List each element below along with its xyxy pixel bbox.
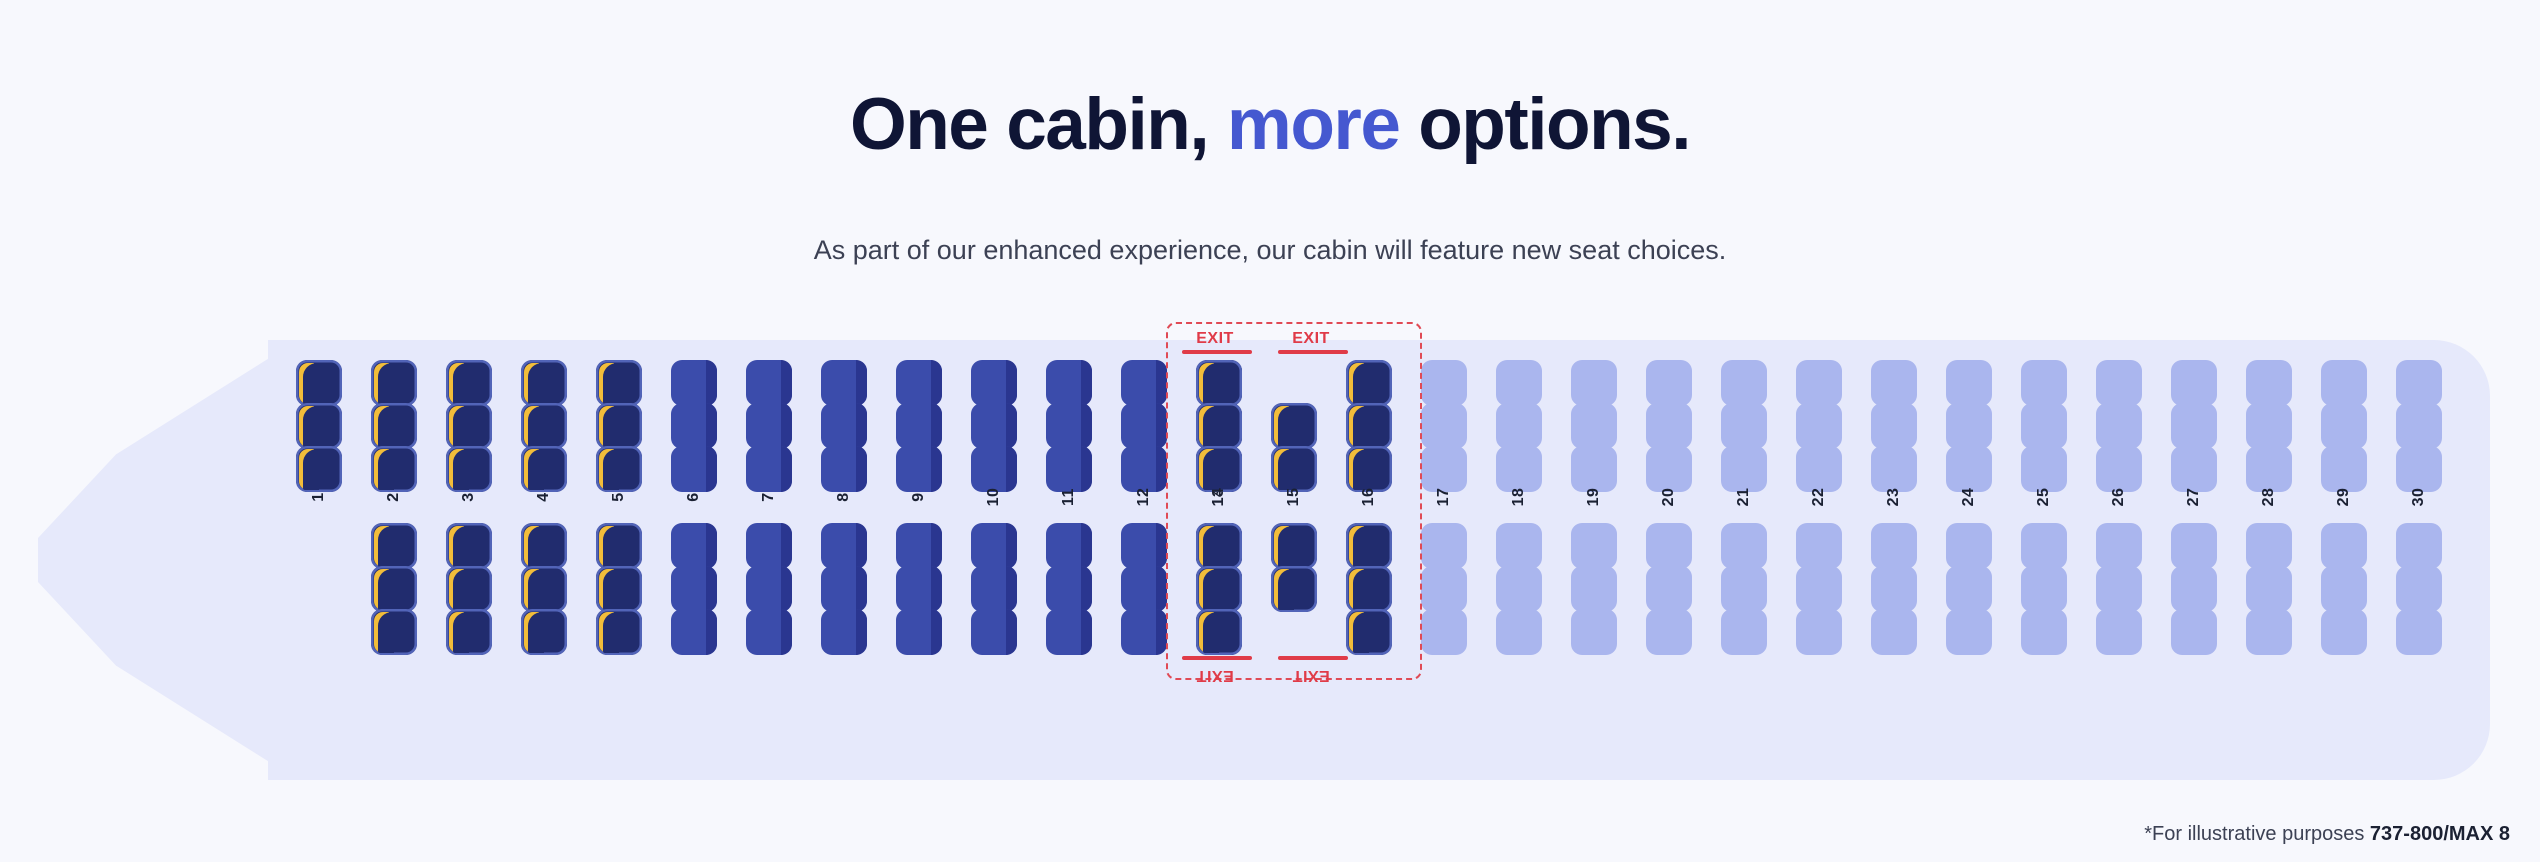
seat-22-upper-2[interactable] xyxy=(1796,403,1842,449)
seat-29-lower-1[interactable] xyxy=(2321,523,2367,569)
seat-8-lower-1[interactable] xyxy=(821,523,867,569)
exit-bar-bottom-left xyxy=(1182,656,1252,660)
seat-29-lower-2[interactable] xyxy=(2321,566,2367,612)
seat-23-upper-1[interactable] xyxy=(1871,360,1917,406)
row-number-17: 17 xyxy=(1435,474,1453,520)
row-number-14: 14 xyxy=(1210,474,1228,520)
seat-23-lower-2[interactable] xyxy=(1871,566,1917,612)
seat-12-lower-3[interactable] xyxy=(1121,609,1167,655)
row-number-15: 15 xyxy=(1285,474,1303,520)
footnote: *For illustrative purposes 737-800/MAX 8 xyxy=(2144,823,2510,846)
exit-bar-top-right xyxy=(1278,350,1348,354)
seat-2-upper-2[interactable] xyxy=(371,403,417,449)
row-number-24: 24 xyxy=(1960,474,1978,520)
seat-23-lower-1[interactable] xyxy=(1871,523,1917,569)
row-number-26: 26 xyxy=(2110,474,2128,520)
row-number-28: 28 xyxy=(2260,474,2278,520)
row-number-3: 3 xyxy=(460,474,478,520)
page-title-part2: options. xyxy=(1399,84,1690,165)
seat-25-upper-1[interactable] xyxy=(2021,360,2067,406)
seat-22-upper-1[interactable] xyxy=(1796,360,1842,406)
seat-3-lower-2[interactable] xyxy=(446,566,492,612)
exit-bar-bottom-right xyxy=(1278,656,1348,660)
seat-4-lower-3[interactable] xyxy=(521,609,567,655)
seat-11-lower-2[interactable] xyxy=(1046,566,1092,612)
seat-10-upper-1[interactable] xyxy=(971,360,1017,406)
row-number-30: 30 xyxy=(2410,474,2428,520)
row-number-5: 5 xyxy=(610,474,628,520)
seat-20-lower-2[interactable] xyxy=(1646,566,1692,612)
seat-17-lower-3[interactable] xyxy=(1421,609,1467,655)
seat-24-upper-2[interactable] xyxy=(1946,403,1992,449)
seat-1-upper-2[interactable] xyxy=(296,403,342,449)
seat-16-lower-1[interactable] xyxy=(1346,523,1392,569)
seat-26-lower-2[interactable] xyxy=(2096,566,2142,612)
seat-29-lower-3[interactable] xyxy=(2321,609,2367,655)
seat-8-lower-3[interactable] xyxy=(821,609,867,655)
seat-21-upper-1[interactable] xyxy=(1721,360,1767,406)
row-number-27: 27 xyxy=(2185,474,2203,520)
footnote-aircraft: 737-800/MAX 8 xyxy=(2370,823,2510,845)
seat-2-lower-1[interactable] xyxy=(371,523,417,569)
row-number-9: 9 xyxy=(910,474,928,520)
seat-19-lower-3[interactable] xyxy=(1571,609,1617,655)
seat-29-upper-1[interactable] xyxy=(2321,360,2367,406)
seat-7-upper-2[interactable] xyxy=(746,403,792,449)
seat-5-upper-2[interactable] xyxy=(596,403,642,449)
seat-17-lower-2[interactable] xyxy=(1421,566,1467,612)
seat-16-lower-2[interactable] xyxy=(1346,566,1392,612)
page-title-part1: One cabin, xyxy=(850,84,1227,165)
seat-12-upper-1[interactable] xyxy=(1121,360,1167,406)
seat-24-lower-2[interactable] xyxy=(1946,566,1992,612)
seat-11-lower-3[interactable] xyxy=(1046,609,1092,655)
seat-2-lower-2[interactable] xyxy=(371,566,417,612)
seat-28-upper-1[interactable] xyxy=(2246,360,2292,406)
seat-30-upper-1[interactable] xyxy=(2396,360,2442,406)
row-number-10: 10 xyxy=(985,474,1003,520)
seat-28-lower-1[interactable] xyxy=(2246,523,2292,569)
seat-21-lower-1[interactable] xyxy=(1721,523,1767,569)
seat-16-lower-3[interactable] xyxy=(1346,609,1392,655)
seat-28-lower-2[interactable] xyxy=(2246,566,2292,612)
seat-8-upper-1[interactable] xyxy=(821,360,867,406)
exit-label-bottom-right: EXIT xyxy=(1276,666,1346,684)
seat-7-upper-1[interactable] xyxy=(746,360,792,406)
seat-15-upper-2[interactable] xyxy=(1271,403,1317,449)
seat-9-lower-3[interactable] xyxy=(896,609,942,655)
seat-28-lower-3[interactable] xyxy=(2246,609,2292,655)
seat-22-lower-1[interactable] xyxy=(1796,523,1842,569)
seat-16-upper-1[interactable] xyxy=(1346,360,1392,406)
seat-12-lower-2[interactable] xyxy=(1121,566,1167,612)
seat-9-lower-2[interactable] xyxy=(896,566,942,612)
seat-5-lower-1[interactable] xyxy=(596,523,642,569)
seat-4-lower-1[interactable] xyxy=(521,523,567,569)
seat-6-upper-1[interactable] xyxy=(671,360,717,406)
seat-3-upper-2[interactable] xyxy=(446,403,492,449)
seat-8-upper-2[interactable] xyxy=(821,403,867,449)
row-number-12: 12 xyxy=(1135,474,1153,520)
seat-30-lower-3[interactable] xyxy=(2396,609,2442,655)
seat-23-upper-2[interactable] xyxy=(1871,403,1917,449)
seat-map: 1234567891011121314151617181920212223242… xyxy=(0,340,2540,780)
seat-11-upper-1[interactable] xyxy=(1046,360,1092,406)
seat-19-lower-2[interactable] xyxy=(1571,566,1617,612)
seat-30-lower-2[interactable] xyxy=(2396,566,2442,612)
seat-14-lower-3[interactable] xyxy=(1196,609,1242,655)
seat-17-upper-1[interactable] xyxy=(1421,360,1467,406)
seat-21-lower-2[interactable] xyxy=(1721,566,1767,612)
seat-6-lower-2[interactable] xyxy=(671,566,717,612)
seat-25-upper-2[interactable] xyxy=(2021,403,2067,449)
seat-22-lower-2[interactable] xyxy=(1796,566,1842,612)
seat-27-lower-2[interactable] xyxy=(2171,566,2217,612)
seat-19-upper-1[interactable] xyxy=(1571,360,1617,406)
seat-24-upper-1[interactable] xyxy=(1946,360,1992,406)
seat-6-lower-1[interactable] xyxy=(671,523,717,569)
seat-8-lower-2[interactable] xyxy=(821,566,867,612)
row-number-1: 1 xyxy=(310,474,328,520)
seat-14-upper-2[interactable] xyxy=(1196,403,1242,449)
row-number-4: 4 xyxy=(535,474,553,520)
seat-18-upper-1[interactable] xyxy=(1496,360,1542,406)
row-number-25: 25 xyxy=(2035,474,2053,520)
seat-21-lower-3[interactable] xyxy=(1721,609,1767,655)
seat-4-upper-1[interactable] xyxy=(521,360,567,406)
seat-10-upper-2[interactable] xyxy=(971,403,1017,449)
seat-19-upper-2[interactable] xyxy=(1571,403,1617,449)
row-number-23: 23 xyxy=(1885,474,1903,520)
page-title: One cabin, more options. xyxy=(0,88,2540,161)
row-number-16: 16 xyxy=(1360,474,1378,520)
seat-30-upper-2[interactable] xyxy=(2396,403,2442,449)
seat-16-upper-2[interactable] xyxy=(1346,403,1392,449)
seat-9-lower-1[interactable] xyxy=(896,523,942,569)
exit-label-bottom-left: EXIT xyxy=(1180,666,1250,684)
seat-18-lower-2[interactable] xyxy=(1496,566,1542,612)
seat-17-upper-2[interactable] xyxy=(1421,403,1467,449)
exit-bar-top-left xyxy=(1182,350,1252,354)
seat-7-lower-2[interactable] xyxy=(746,566,792,612)
seat-12-lower-1[interactable] xyxy=(1121,523,1167,569)
exit-label-top-right: EXIT xyxy=(1276,330,1346,348)
seat-30-lower-1[interactable] xyxy=(2396,523,2442,569)
seat-19-lower-1[interactable] xyxy=(1571,523,1617,569)
seat-9-upper-1[interactable] xyxy=(896,360,942,406)
seat-7-lower-3[interactable] xyxy=(746,609,792,655)
seat-18-lower-1[interactable] xyxy=(1496,523,1542,569)
seat-27-upper-1[interactable] xyxy=(2171,360,2217,406)
seat-12-upper-2[interactable] xyxy=(1121,403,1167,449)
seat-7-lower-1[interactable] xyxy=(746,523,792,569)
seat-26-upper-2[interactable] xyxy=(2096,403,2142,449)
seat-14-lower-2[interactable] xyxy=(1196,566,1242,612)
row-number-2: 2 xyxy=(385,474,403,520)
exit-label-top-left: EXIT xyxy=(1180,330,1250,348)
seat-4-upper-2[interactable] xyxy=(521,403,567,449)
row-number-20: 20 xyxy=(1660,474,1678,520)
seat-26-lower-3[interactable] xyxy=(2096,609,2142,655)
row-number-6: 6 xyxy=(685,474,703,520)
seat-6-upper-2[interactable] xyxy=(671,403,717,449)
row-number-8: 8 xyxy=(835,474,853,520)
seat-27-upper-2[interactable] xyxy=(2171,403,2217,449)
seat-3-upper-1[interactable] xyxy=(446,360,492,406)
seat-27-lower-3[interactable] xyxy=(2171,609,2217,655)
seat-17-lower-1[interactable] xyxy=(1421,523,1467,569)
seat-10-lower-1[interactable] xyxy=(971,523,1017,569)
seat-15-lower-2[interactable] xyxy=(1271,566,1317,612)
row-number-29: 29 xyxy=(2335,474,2353,520)
seat-24-lower-1[interactable] xyxy=(1946,523,1992,569)
row-number-19: 19 xyxy=(1585,474,1603,520)
page-subtitle: As part of our enhanced experience, our … xyxy=(0,235,2540,266)
seat-25-lower-3[interactable] xyxy=(2021,609,2067,655)
seat-18-lower-3[interactable] xyxy=(1496,609,1542,655)
fuselage-nose xyxy=(38,340,298,780)
seat-11-upper-2[interactable] xyxy=(1046,403,1092,449)
seat-27-lower-1[interactable] xyxy=(2171,523,2217,569)
seat-2-lower-3[interactable] xyxy=(371,609,417,655)
seat-26-upper-1[interactable] xyxy=(2096,360,2142,406)
seat-23-lower-3[interactable] xyxy=(1871,609,1917,655)
seat-15-lower-1[interactable] xyxy=(1271,523,1317,569)
seat-29-upper-2[interactable] xyxy=(2321,403,2367,449)
seat-26-lower-1[interactable] xyxy=(2096,523,2142,569)
seat-14-lower-1[interactable] xyxy=(1196,523,1242,569)
row-number-21: 21 xyxy=(1735,474,1753,520)
seat-5-lower-2[interactable] xyxy=(596,566,642,612)
seat-20-lower-1[interactable] xyxy=(1646,523,1692,569)
row-number-7: 7 xyxy=(760,474,778,520)
seat-10-lower-3[interactable] xyxy=(971,609,1017,655)
seat-22-lower-3[interactable] xyxy=(1796,609,1842,655)
seat-20-lower-3[interactable] xyxy=(1646,609,1692,655)
seat-5-upper-1[interactable] xyxy=(596,360,642,406)
seat-1-upper-1[interactable] xyxy=(296,360,342,406)
seat-3-lower-1[interactable] xyxy=(446,523,492,569)
seat-28-upper-2[interactable] xyxy=(2246,403,2292,449)
seat-11-lower-1[interactable] xyxy=(1046,523,1092,569)
seat-14-upper-1[interactable] xyxy=(1196,360,1242,406)
seat-2-upper-1[interactable] xyxy=(371,360,417,406)
footnote-text: *For illustrative purposes xyxy=(2144,823,2370,845)
seat-9-upper-2[interactable] xyxy=(896,403,942,449)
seat-21-upper-2[interactable] xyxy=(1721,403,1767,449)
row-number-18: 18 xyxy=(1510,474,1528,520)
seat-5-lower-3[interactable] xyxy=(596,609,642,655)
seat-25-lower-2[interactable] xyxy=(2021,566,2067,612)
seat-4-lower-2[interactable] xyxy=(521,566,567,612)
row-number-11: 11 xyxy=(1060,474,1078,520)
seat-18-upper-2[interactable] xyxy=(1496,403,1542,449)
seat-25-lower-1[interactable] xyxy=(2021,523,2067,569)
page-title-accent: more xyxy=(1227,84,1400,165)
seat-20-upper-1[interactable] xyxy=(1646,360,1692,406)
seat-10-lower-2[interactable] xyxy=(971,566,1017,612)
row-number-22: 22 xyxy=(1810,474,1828,520)
seat-20-upper-2[interactable] xyxy=(1646,403,1692,449)
seat-3-lower-3[interactable] xyxy=(446,609,492,655)
seat-24-lower-3[interactable] xyxy=(1946,609,1992,655)
seat-6-lower-3[interactable] xyxy=(671,609,717,655)
